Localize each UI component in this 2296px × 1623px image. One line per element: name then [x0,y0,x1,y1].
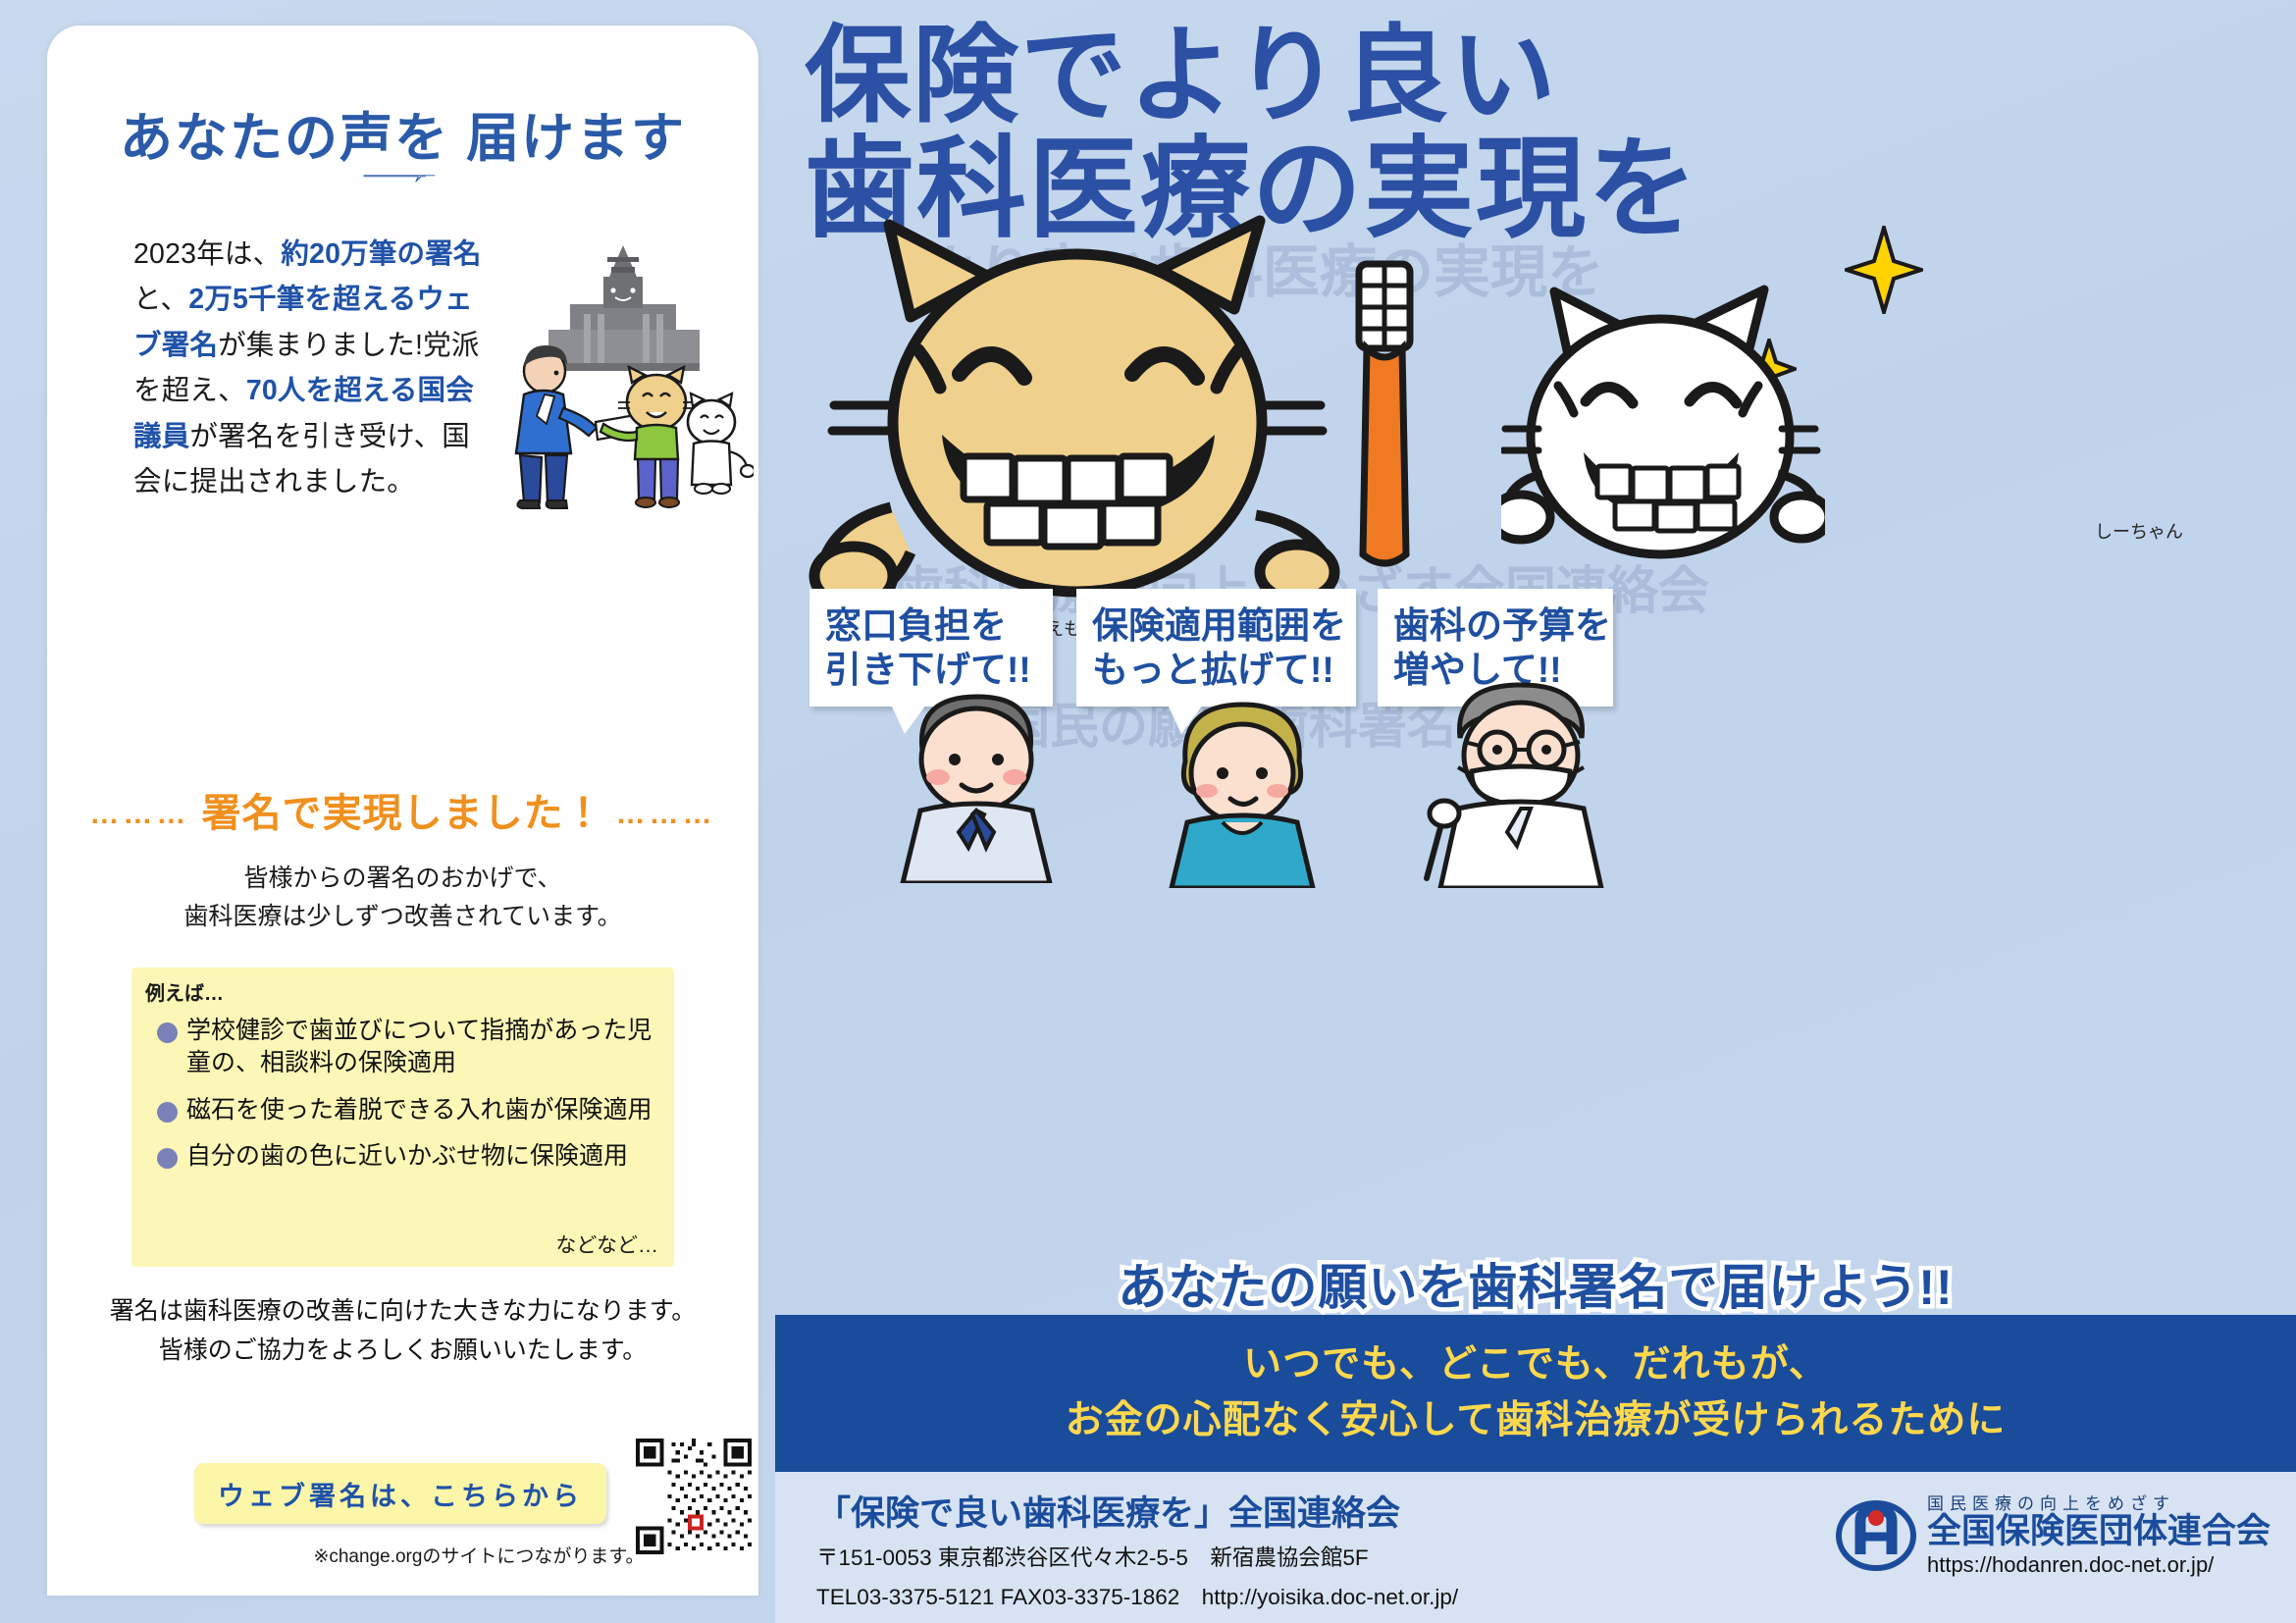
dots-right: ……… [616,798,716,830]
demand-bubble-3-line-1: 歯科の予算を [1393,603,1597,648]
headline-underline-bubble-tail [131,175,667,183]
examples-etc-label: などなど… [555,1230,658,1259]
left-subtext-line-2: 歯科医療は少しずつ改善されています。 [47,898,758,936]
left-closing-line-1: 署名は歯科医療の改善に向けた大きな力になります。 [47,1291,758,1331]
demand-bubble-2-line-1: 保険適用範囲を [1092,603,1340,648]
footer-org-name: 「保険で良い歯科医療を」全国連絡会 [816,1486,1458,1536]
orange-banner: ……… 署名で実現しました！ ……… [47,781,758,838]
blue-band-line-2: お金の心配なく安心して歯科治療が受けられるために [1066,1393,2007,1449]
blue-band-line-1: いつでも、どこでも、だれもが、 [1243,1337,1828,1393]
hodanren-logo-icon [1835,1499,1917,1572]
examples-label: 例えば… [145,977,224,1006]
cta-big-line: あなたの願いを歯科署名で届けよう!! [775,1248,2296,1319]
left-closing-line-2: 皆様のご協力をよろしくお願いいたします。 [47,1331,758,1370]
footer-logo-url: https://hodanren.doc-net.or.jp/ [1927,1552,2270,1578]
person-man-suit [863,687,1089,883]
illustration-petition-handover [494,220,754,514]
demand-bubble-2-line-2: もっと拡げて!! [1092,648,1340,692]
cat-character-shichan [1501,270,1825,564]
left-headline: あなたの声を 届けます [120,112,686,165]
left-panel: あなたの声を 届けます 2023年は、約20万筆の署名と、2万5千筆を超えるウェ… [47,26,758,1596]
cat-character-pikaemon-small [600,367,695,507]
sparkle-icon-1 [1845,226,1923,314]
diet-building-icon [548,245,700,371]
toothbrush-icon [1330,250,1437,574]
example-item: 自分の歯の色に近いかぶせ物に保険適用 [153,1140,663,1173]
paragraph-run-0: 2023年は、 [133,238,281,270]
paragraph-run-2: と、 [133,284,188,315]
example-item: 磁石を使った着脱できる入れ歯が保険適用 [153,1094,663,1126]
demand-bubble-1-line-1: 窓口負担を [825,603,1037,648]
footer-logo-tagline: 国民医療の向上をめざす [1927,1490,2270,1514]
example-item: 学校健診で歯並びについて指摘があった児童の、相談料の保険適用 [153,1015,663,1080]
right-panel: より良い歯科医療の実現を 歯科医療の向上をめざす全国連絡会 国民の願い 歯科署名… [775,0,2296,1623]
cta-big-text: あなたの願いを歯科署名で届けよう!! [1118,1260,1953,1315]
footer-contact-line: TEL03-3375-5121 FAX03-3375-1862 http://y… [816,1582,1458,1614]
cat-character-pikaemon [795,191,1403,603]
examples-list: 学校健診で歯並びについて指摘があった児童の、相談料の保険適用磁石を使った着脱でき… [153,1015,663,1186]
poster-page: あなたの声を 届けます 2023年は、約20万筆の署名と、2万5千筆を超えるウェ… [0,0,2296,1623]
paragraph-run-1: 約20万筆の署名 [281,238,481,270]
left-closing: 署名は歯科医療の改善に向けた大きな力になります。 皆様のご協力をよろしくお願いい… [47,1291,758,1370]
left-subtext: 皆様からの署名のおかげで、 歯科医療は少しずつ改善されています。 [47,860,758,936]
left-paragraph: 2023年は、約20万筆の署名と、2万5千筆を超えるウェブ署名が集まりました!党… [133,232,496,505]
footer-contact: 「保険で良い歯科医療を」全国連絡会 〒151-0053 東京都渋谷区代々木2-5… [816,1486,1458,1613]
footer-logo-name: 全国保険医団体連合会 [1927,1514,2270,1550]
person-dentist [1403,677,1639,888]
demand-bubble-1-line-2: 引き下げて!! [825,648,1037,692]
footer: 「保険で良い歯科医療を」全国連絡会 〒151-0053 東京都渋谷区代々木2-5… [775,1472,2296,1623]
character-name-shichan: しーちゃん [2095,518,2183,544]
examples-box: 例えば… 学校健診で歯並びについて指摘があった児童の、相談料の保険適用磁石を使っ… [131,968,674,1267]
left-headline-wrap: あなたの声を 届けます [47,112,758,165]
left-subtext-line-1: 皆様からの署名のおかげで、 [47,860,758,898]
web-signature-button-label: ウェブ署名は、こちらから [218,1475,583,1513]
person-woman [1138,697,1349,888]
main-title-line-1: 保険でより良い [805,20,2286,131]
blue-message-band: いつでも、どこでも、だれもが、 お金の心配なく安心して歯科治療が受けられるために [775,1315,2296,1472]
orange-banner-text: 署名で実現しました！ [202,792,604,835]
web-signature-button[interactable]: ウェブ署名は、こちらから [194,1463,606,1524]
paragraph-run-4: が集まりました! [218,330,423,361]
cat-character-shichan-small [688,393,754,494]
footer-address: 〒151-0053 東京都渋谷区代々木2-5-5 新宿農協会館5F [816,1543,1458,1575]
dots-left: ……… [89,798,189,830]
qr-code[interactable] [636,1439,752,1554]
cta-note: ※change.orgのサイトにつながります。 [283,1542,675,1568]
demand-bubble-2: 保険適用範囲を もっと拡げて!! [1076,589,1356,707]
footer-logo-block: 国民医療の向上をめざす 全国保険医団体連合会 https://hodanren.… [1835,1490,2270,1578]
